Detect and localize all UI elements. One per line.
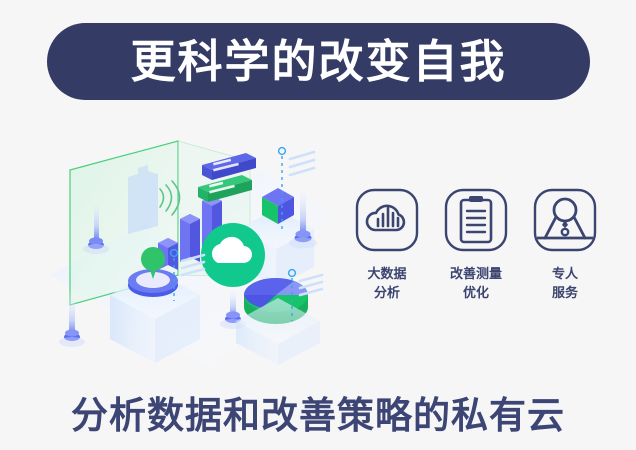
feature-label-line2: 服务 xyxy=(552,285,578,304)
feature-item-big-data[interactable]: 大数据 分析 xyxy=(352,188,422,328)
feature-item-measurement[interactable]: 改善测量 优化 xyxy=(441,188,511,328)
feature-label-line2: 优化 xyxy=(450,285,502,304)
feature-label-line2: 分析 xyxy=(367,285,406,304)
footer-tagline: 分析数据和改善策略的私有云 xyxy=(0,385,636,439)
poster-canvas: 更科学的改变自我 xyxy=(0,0,636,450)
feature-label-line1: 大数据 xyxy=(367,266,406,285)
clipboard-icon xyxy=(444,188,508,252)
isometric-illustration xyxy=(50,125,340,365)
feature-item-service[interactable]: 专人 服务 xyxy=(530,188,600,328)
feature-label-measurement: 改善测量 优化 xyxy=(450,266,502,304)
service-agent-icon xyxy=(533,188,597,252)
cloud-badge xyxy=(201,223,265,287)
feature-label-service: 专人 服务 xyxy=(552,266,578,304)
feature-label-line1: 专人 xyxy=(552,266,578,285)
page-title: 更科学的改变自我 xyxy=(130,39,506,84)
feature-label-line1: 改善测量 xyxy=(450,266,502,285)
feature-label-big-data: 大数据 分析 xyxy=(367,266,406,304)
feature-list: 大数据 分析 改善测量 xyxy=(352,188,600,328)
cloud-bar-chart-icon xyxy=(355,188,419,252)
speed-lines-right xyxy=(290,152,314,175)
title-banner: 更科学的改变自我 xyxy=(47,23,590,100)
